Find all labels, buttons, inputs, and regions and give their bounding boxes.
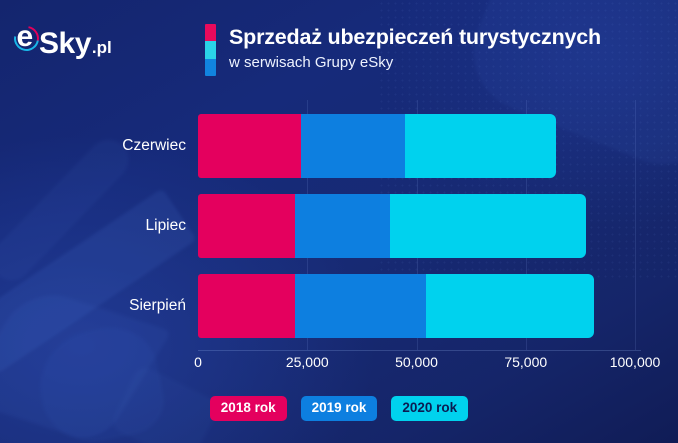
x-tick-label: 75,000 xyxy=(504,354,547,370)
bar-segment-2019-rok[interactable] xyxy=(295,194,390,258)
category-label-lipiec: Lipiec xyxy=(146,217,187,235)
bar-row[interactable] xyxy=(198,274,594,338)
gridline xyxy=(635,100,636,350)
logo-text-pl: .pl xyxy=(92,38,112,58)
bar-segment-2020-rok[interactable] xyxy=(390,194,586,258)
bar-segment-2018-rok[interactable] xyxy=(198,114,301,178)
legend-item-2019-rok[interactable]: 2019 rok xyxy=(301,396,378,421)
bar-segment-2020-rok[interactable] xyxy=(426,274,594,338)
title-block: Sprzedaż ubezpieczeń turystycznych w ser… xyxy=(205,24,601,76)
category-label-czerwiec: Czerwiec xyxy=(122,137,186,155)
plot-area: 025,00050,00075,000100,000 xyxy=(198,100,635,350)
x-tick-label: 0 xyxy=(194,354,202,370)
header: e Sky .pl Sprzedaż ubezpieczeń turystycz… xyxy=(0,0,678,100)
bar-row[interactable] xyxy=(198,114,556,178)
infographic-root: e Sky .pl Sprzedaż ubezpieczeń turystycz… xyxy=(0,0,678,443)
chart-area: CzerwiecLipiecSierpień 025,00050,00075,0… xyxy=(0,100,678,365)
x-tick-label: 100,000 xyxy=(610,354,661,370)
x-tick-label: 25,000 xyxy=(286,354,329,370)
chart-legend: 2018 rok2019 rok2020 rok xyxy=(0,396,678,421)
bar-segment-2018-rok[interactable] xyxy=(198,274,295,338)
x-axis-line xyxy=(198,350,641,351)
chart-subtitle: w serwisach Grupy eSky xyxy=(229,53,601,73)
legend-item-2018-rok[interactable]: 2018 rok xyxy=(210,396,287,421)
category-label-sierpień: Sierpień xyxy=(129,297,186,315)
bar-segment-2019-rok[interactable] xyxy=(301,114,405,178)
logo-letter-e: e xyxy=(17,22,34,52)
bar-segment-2020-rok[interactable] xyxy=(405,114,556,178)
logo-text-sky: Sky xyxy=(39,27,91,61)
bar-segment-2019-rok[interactable] xyxy=(295,274,426,338)
bar-row[interactable] xyxy=(198,194,586,258)
esky-logo-arc-icon: e xyxy=(14,23,40,53)
tricolor-bar-icon xyxy=(205,24,216,76)
esky-logo: e Sky .pl xyxy=(14,23,112,61)
category-axis: CzerwiecLipiecSierpień xyxy=(0,100,196,350)
bar-segment-2018-rok[interactable] xyxy=(198,194,295,258)
chart-title: Sprzedaż ubezpieczeń turystycznych xyxy=(229,25,601,50)
x-tick-label: 50,000 xyxy=(395,354,438,370)
legend-item-2020-rok[interactable]: 2020 rok xyxy=(391,396,468,421)
